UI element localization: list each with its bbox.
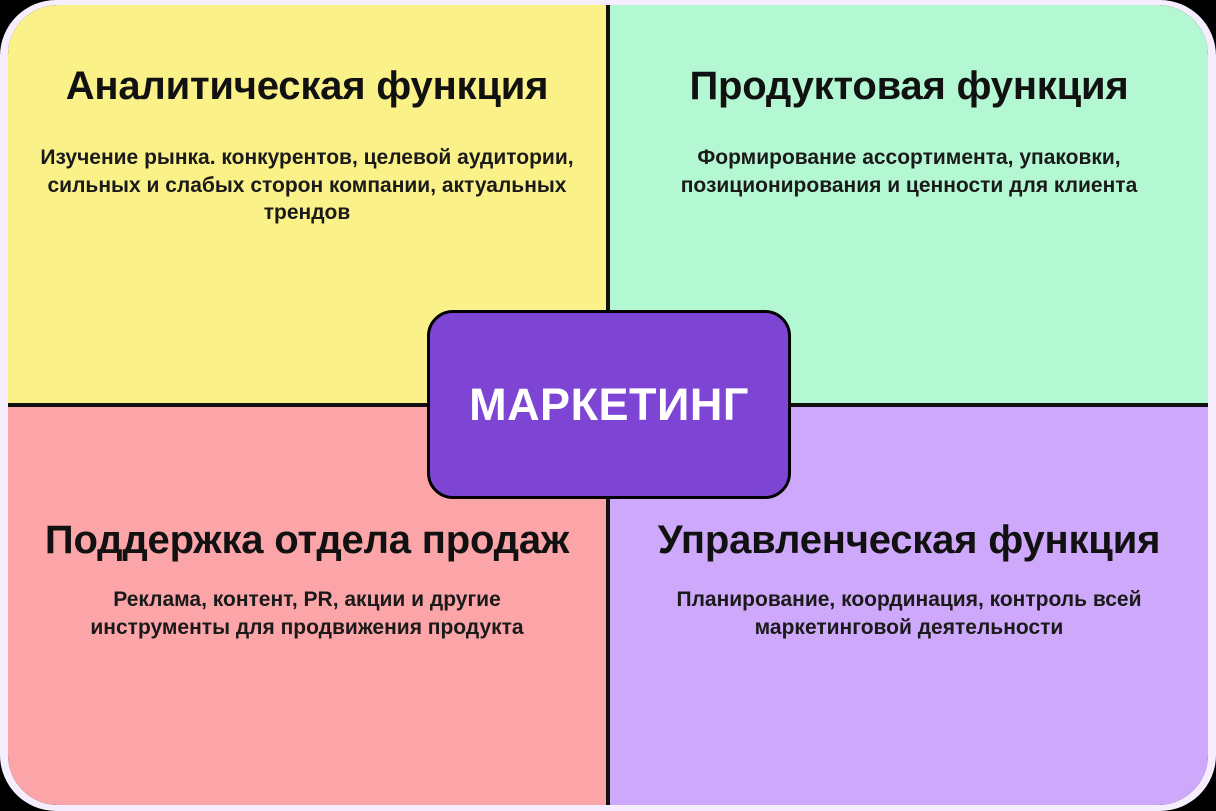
quadrant-management-title: Управленческая функция bbox=[658, 517, 1160, 564]
quadrant-analytics-description: Изучение рынка. конкурентов, целевой ауд… bbox=[37, 144, 577, 227]
quadrant-analytics-title: Аналитическая функция bbox=[66, 63, 549, 110]
center-badge-marketing[interactable]: МАРКЕТИНГ bbox=[427, 310, 791, 499]
diagram-canvas: Аналитическая функция Изучение рынка. ко… bbox=[0, 0, 1216, 811]
quadrant-management-description: Планирование, координация, контроль всей… bbox=[649, 586, 1169, 641]
quadrant-sales-support-description: Реклама, контент, PR, акции и другие инс… bbox=[57, 586, 557, 641]
quadrant-sales-support-title: Поддержка отдела продаж bbox=[45, 517, 569, 564]
quadrant-product-description: Формирование ассортимента, упаковки, поз… bbox=[636, 144, 1182, 199]
quadrant-product-title: Продуктовая функция bbox=[689, 63, 1128, 110]
center-badge-label: МАРКЕТИНГ bbox=[469, 382, 749, 427]
